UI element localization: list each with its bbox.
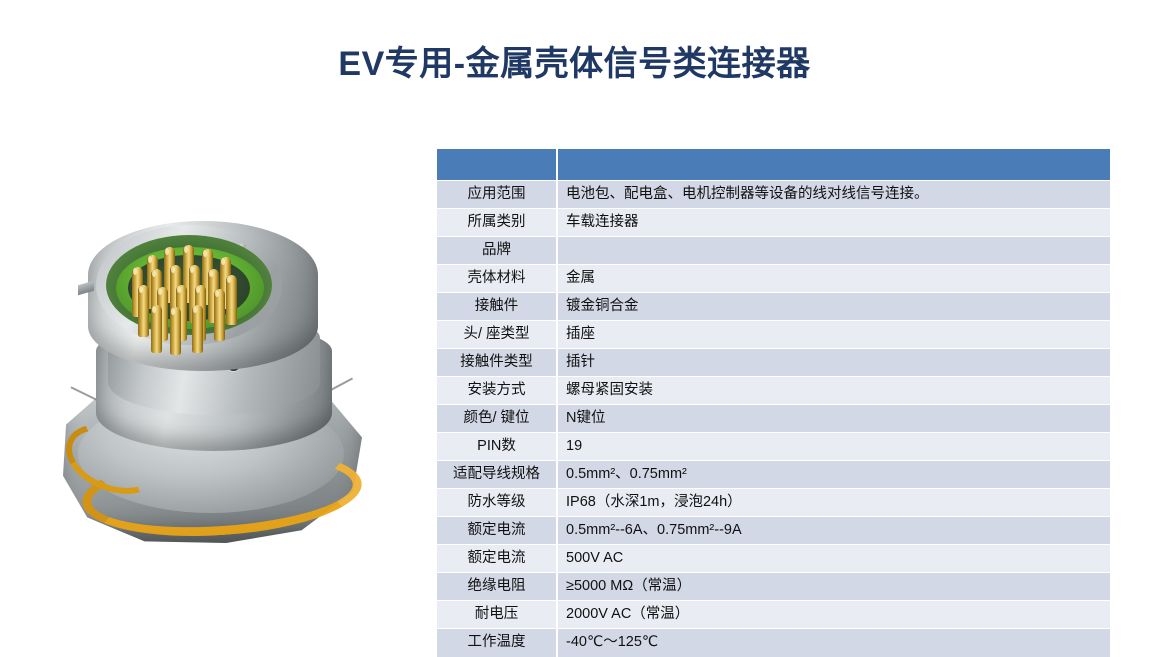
table-header-value-text: [558, 164, 1110, 166]
connector-pin: [226, 275, 237, 325]
spec-label: PIN数: [437, 433, 557, 461]
connector-pin: [170, 307, 181, 355]
spec-value: N键位: [557, 405, 1110, 433]
spec-label: 颜色/ 键位: [437, 405, 557, 433]
table-row: 接触件镀金铜合金: [437, 293, 1110, 321]
spec-value: 金属: [557, 265, 1110, 293]
spec-value: -40℃～125℃: [557, 629, 1110, 657]
spec-value: 车载连接器: [557, 209, 1110, 237]
spec-label: 壳体材料: [437, 265, 557, 293]
connector-pin: [214, 289, 225, 341]
table-header-cell-label: [437, 149, 557, 181]
table-row: 壳体材料金属: [437, 265, 1110, 293]
table-header-label-text: [437, 164, 556, 166]
spec-label: 防水等级: [437, 489, 557, 517]
spec-value: IP68（水深1m，浸泡24h）: [557, 489, 1110, 517]
connector-pin: [138, 285, 149, 337]
table-row: 接触件类型插针: [437, 349, 1110, 377]
spec-value: 插针: [557, 349, 1110, 377]
table-row: 绝缘电阻≥5000 MΩ（常温）: [437, 573, 1110, 601]
spec-label: 额定电流: [437, 545, 557, 573]
spec-label: 绝缘电阻: [437, 573, 557, 601]
page-title: EV专用-金属壳体信号类连接器: [0, 36, 1149, 85]
spec-label: 额定电流: [437, 517, 557, 545]
table-row: 品牌: [437, 237, 1110, 265]
connector-illustration: [52, 215, 382, 555]
spec-value: [557, 237, 1110, 265]
table-row: 头/ 座类型插座: [437, 321, 1110, 349]
spec-label: 品牌: [437, 237, 557, 265]
connector-pin: [151, 305, 162, 353]
connector-pin: [192, 305, 203, 353]
spec-label: 安装方式: [437, 377, 557, 405]
table-row: 应用范围电池包、配电盒、电机控制器等设备的线对线信号连接。: [437, 181, 1110, 209]
table-header: [437, 149, 1110, 181]
spec-label: 工作温度: [437, 629, 557, 657]
table-row: 额定电流500V AC: [437, 545, 1110, 573]
spec-label: 接触件类型: [437, 349, 557, 377]
spec-value: 螺母紧固安装: [557, 377, 1110, 405]
spec-label: 所属类别: [437, 209, 557, 237]
table-body: 应用范围电池包、配电盒、电机控制器等设备的线对线信号连接。所属类别车载连接器品牌…: [437, 181, 1110, 657]
table-row: 防水等级IP68（水深1m，浸泡24h）: [437, 489, 1110, 517]
spec-value: 插座: [557, 321, 1110, 349]
specification-table: 应用范围电池包、配电盒、电机控制器等设备的线对线信号连接。所属类别车载连接器品牌…: [437, 149, 1110, 657]
table-row: 适配导线规格0.5mm²、0.75mm²: [437, 461, 1110, 489]
spec-label: 接触件: [437, 293, 557, 321]
table-row: 额定电流0.5mm²--6A、0.75mm²--9A: [437, 517, 1110, 545]
spec-value: 0.5mm²、0.75mm²: [557, 461, 1110, 489]
spec-label: 耐电压: [437, 601, 557, 629]
spec-value: 镀金铜合金: [557, 293, 1110, 321]
spec-label: 适配导线规格: [437, 461, 557, 489]
spec-value: 2000V AC（常温）: [557, 601, 1110, 629]
spec-label: 头/ 座类型: [437, 321, 557, 349]
spec-value: 0.5mm²--6A、0.75mm²--9A: [557, 517, 1110, 545]
spec-label: 应用范围: [437, 181, 557, 209]
table-row: 工作温度-40℃～125℃: [437, 629, 1110, 657]
table-header-row: [437, 149, 1110, 181]
spec-value: ≥5000 MΩ（常温）: [557, 573, 1110, 601]
table-header-cell-value: [557, 149, 1110, 181]
spec-value: 电池包、配电盒、电机控制器等设备的线对线信号连接。: [557, 181, 1110, 209]
table-row: 安装方式螺母紧固安装: [437, 377, 1110, 405]
table-row: 所属类别车载连接器: [437, 209, 1110, 237]
table-row: PIN数19: [437, 433, 1110, 461]
table-row: 耐电压2000V AC（常温）: [437, 601, 1110, 629]
product-image: [52, 215, 382, 555]
spec-value: 500V AC: [557, 545, 1110, 573]
spec-value: 19: [557, 433, 1110, 461]
table-row: 颜色/ 键位N键位: [437, 405, 1110, 433]
